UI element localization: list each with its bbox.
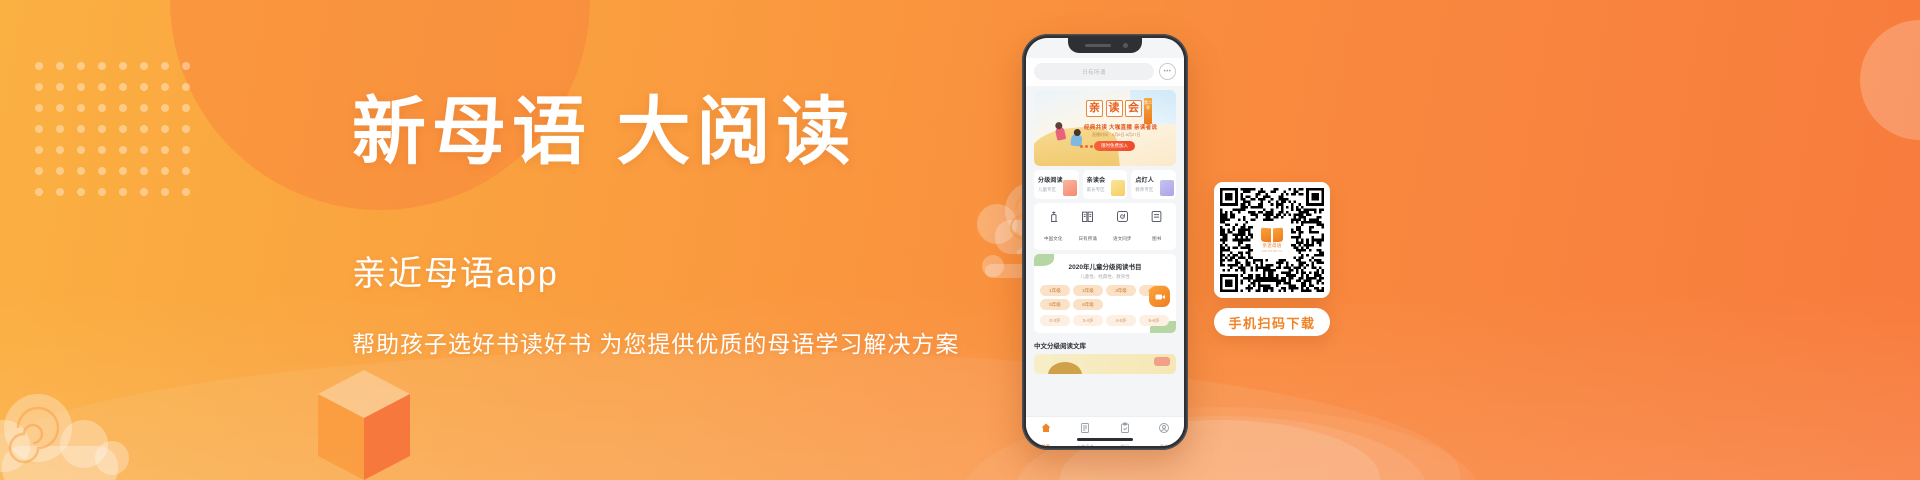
message-icon[interactable]: ••• [1159, 63, 1176, 80]
hero-date: 直播时间：9月6日-9月27日 [1092, 132, 1140, 138]
hero-banner[interactable]: 亲 读 会 第二季 经典共读 大咖直播 亲读者说 直播时间：9月6日-9月27日… [1034, 90, 1176, 166]
entry-card-graded-reading[interactable]: 分级阅读 儿童专区 [1034, 170, 1079, 199]
carousel-dots[interactable] [1080, 145, 1093, 148]
tab-label: 小步读书 [1077, 444, 1094, 446]
decor-dot [140, 62, 148, 70]
headline: 新母语 大阅读 [352, 96, 1012, 170]
library-block-decor [1154, 357, 1170, 366]
quick-entry-culture[interactable]: 中国文化 [1036, 209, 1071, 245]
decor-dot [182, 125, 190, 133]
play-video-button[interactable] [1149, 286, 1170, 307]
decor-dot [140, 146, 148, 154]
qr-logo-pinyin: QIN JIN MU YU [1262, 250, 1283, 253]
decor-dot [182, 188, 190, 196]
copy-block: 新母语 大阅读 亲近母语app 帮助孩子选好书读好书 为您提供优质的母语学习解决… [352, 96, 1012, 359]
quick-entry-books[interactable]: 图书 [1140, 209, 1175, 245]
entry-card-teacher[interactable]: 点灯人 教师专区 [1131, 170, 1176, 199]
library-card[interactable] [1034, 354, 1176, 374]
decor-dot [119, 104, 127, 112]
decor-dot [98, 104, 106, 112]
decor-dot [35, 146, 43, 154]
decor-dot [35, 167, 43, 175]
decor-dot [35, 188, 43, 196]
decor-dot [56, 83, 64, 91]
age-chip[interactable]: 0-3岁 [1040, 315, 1070, 326]
decor-dot [77, 188, 85, 196]
decor-cube [318, 370, 410, 480]
tab-study[interactable]: 学习 [1105, 421, 1145, 446]
decor-dot [77, 125, 85, 133]
grade-chip[interactable]: 3年级 [1106, 285, 1136, 296]
decor-dot [119, 188, 127, 196]
decor-dot [182, 62, 190, 70]
age-chip[interactable]: 4-5岁 [1106, 315, 1136, 326]
quick-entry-label: 日有所诵 [1079, 236, 1097, 241]
reading-icon [1079, 421, 1091, 433]
download-button[interactable]: 手机扫码下载 [1214, 308, 1330, 336]
decor-dot [140, 188, 148, 196]
decor-dot [161, 167, 169, 175]
decor-dot [77, 167, 85, 175]
decor-dot [56, 167, 64, 175]
earpiece-speaker [1085, 44, 1111, 47]
quick-entry-label: 中国文化 [1044, 236, 1062, 241]
card-thumb-icon [1160, 180, 1174, 196]
decor-dot [56, 62, 64, 70]
decor-dot [182, 83, 190, 91]
search-input[interactable]: 日有所诵 [1034, 63, 1154, 80]
subtitle: 亲近母语app [352, 246, 1012, 295]
grade-chip[interactable]: 5年级 [1040, 299, 1070, 310]
quick-entry-sync[interactable]: 语文同步 [1105, 209, 1140, 245]
decor-dot [119, 146, 127, 154]
decor-dot [140, 125, 148, 133]
search-row: 日有所诵 ••• [1026, 58, 1184, 86]
grade-chip[interactable]: 6年级 [1073, 299, 1103, 310]
entry-cards: 分级阅读 儿童专区 亲读会 家长专区 点灯人 教师专区 [1034, 170, 1176, 199]
culture-icon [1046, 209, 1061, 224]
library-title: 中文分级阅读文库 [1034, 340, 1176, 350]
entry-card-parent-club[interactable]: 亲读会 家长专区 [1083, 170, 1128, 199]
decor-hill [0, 350, 1460, 480]
quick-icon-row: 中国文化 日有所诵 [1034, 203, 1176, 250]
bottom-tab-bar: 首页 小步读书 [1026, 416, 1184, 446]
tab-label: 我的 [1160, 444, 1168, 446]
decor-dot [77, 83, 85, 91]
booklist-title: 2020年儿童分级阅读书目 [1040, 261, 1170, 271]
decor-dot [98, 62, 106, 70]
decor-dot [35, 83, 43, 91]
decor-dot [161, 104, 169, 112]
booklist-subtitle: 儿童性、经典性、教育性 [1040, 274, 1170, 280]
decor-dot [56, 104, 64, 112]
decor-dot [161, 125, 169, 133]
sync-icon [1115, 209, 1130, 224]
decor-dot [119, 125, 127, 133]
tab-home[interactable]: 首页 [1026, 421, 1066, 446]
decor-dot [161, 146, 169, 154]
quick-entry-label: 图书 [1152, 236, 1161, 241]
decor-dot [161, 62, 169, 70]
user-icon [1158, 421, 1170, 433]
decor-cloud-bottom-left [0, 370, 160, 480]
qr-code-card[interactable]: 亲近母语 QIN JIN MU YU [1214, 182, 1330, 298]
message-icon-glyph: ••• [1164, 69, 1172, 75]
decor-dot [77, 104, 85, 112]
decor-dot [98, 125, 106, 133]
decor-dot [119, 62, 127, 70]
decor-dot [98, 167, 106, 175]
home-icon [1040, 421, 1052, 433]
age-chip-group: 0-3岁3-4岁4-5岁5-6岁 [1040, 315, 1170, 326]
phone-mockup: 日有所诵 ••• 亲 读 会 第二季 经典共读 [1022, 34, 1188, 450]
decor-dot [35, 62, 43, 70]
tab-label: 学习 [1121, 444, 1129, 446]
hero-char-3: 会 [1125, 100, 1142, 117]
tab-label: 首页 [1042, 444, 1050, 446]
tab-reading[interactable]: 小步读书 [1066, 421, 1106, 446]
decor-dot [35, 125, 43, 133]
decor-dot [35, 104, 43, 112]
app-screen: 日有所诵 ••• 亲 读 会 第二季 经典共读 [1026, 38, 1184, 446]
booklist-section: 2020年儿童分级阅读书目 儿童性、经典性、教育性 1年级2年级3年级4年级5年… [1034, 254, 1176, 333]
decor-dot-grid [35, 62, 203, 209]
card-thumb-icon [1111, 180, 1125, 196]
decor-dot [182, 104, 190, 112]
book-open-icon [1080, 209, 1095, 224]
library-arc-decor [1048, 362, 1082, 374]
quick-entry-label: 语文同步 [1113, 236, 1131, 241]
decor-dot [77, 146, 85, 154]
decor-dot [98, 146, 106, 154]
grade-chip[interactable]: 1年级 [1040, 285, 1070, 296]
decor-dot [56, 188, 64, 196]
grade-chip-group: 1年级2年级3年级4年级5年级6年级 [1040, 285, 1170, 310]
book-logo-icon [1261, 228, 1283, 242]
phone-notch [1068, 38, 1142, 53]
hero-subtitle: 经典共读 大咖直播 亲读者说 [1084, 123, 1157, 131]
front-camera-icon [1123, 43, 1128, 48]
decor-dot [140, 167, 148, 175]
decor-dot [161, 188, 169, 196]
decor-dot [119, 167, 127, 175]
home-indicator [1077, 438, 1133, 441]
decor-dot [77, 62, 85, 70]
hero-join-button[interactable]: 限时免费加入 [1094, 141, 1135, 151]
decor-dot [182, 146, 190, 154]
decor-circle-right [1860, 20, 1920, 140]
card-thumb-icon [1063, 180, 1077, 196]
qr-logo-name: 亲近母语 [1262, 243, 1281, 249]
hero-char-2: 读 [1106, 100, 1123, 117]
books-icon [1149, 209, 1164, 224]
decor-dot [140, 83, 148, 91]
clipboard-icon [1119, 421, 1131, 433]
hero-title: 亲 读 会 [1086, 100, 1142, 117]
decor-dot [56, 146, 64, 154]
age-chip[interactable]: 3-4岁 [1073, 315, 1103, 326]
decor-dot [56, 125, 64, 133]
quick-entry-daily-recite[interactable]: 日有所诵 [1071, 209, 1106, 245]
decor-dot [119, 83, 127, 91]
decor-dot [182, 167, 190, 175]
hero-season-flag: 第二季 [1144, 98, 1152, 124]
decor-dot [161, 83, 169, 91]
qr-center-logo: 亲近母语 QIN JIN MU YU [1256, 224, 1288, 256]
promo-banner: 新母语 大阅读 亲近母语app 帮助孩子选好书读好书 为您提供优质的母语学习解决… [0, 0, 1920, 480]
decor-dot [98, 188, 106, 196]
description: 帮助孩子选好书读好书 为您提供优质的母语学习解决方案 [352, 325, 1012, 359]
decor-dot [98, 83, 106, 91]
hero-char-1: 亲 [1086, 100, 1103, 117]
decor-dot [140, 104, 148, 112]
age-chip[interactable]: 5-6岁 [1139, 315, 1169, 326]
tab-profile[interactable]: 我的 [1145, 421, 1185, 446]
grade-chip[interactable]: 2年级 [1073, 285, 1103, 296]
